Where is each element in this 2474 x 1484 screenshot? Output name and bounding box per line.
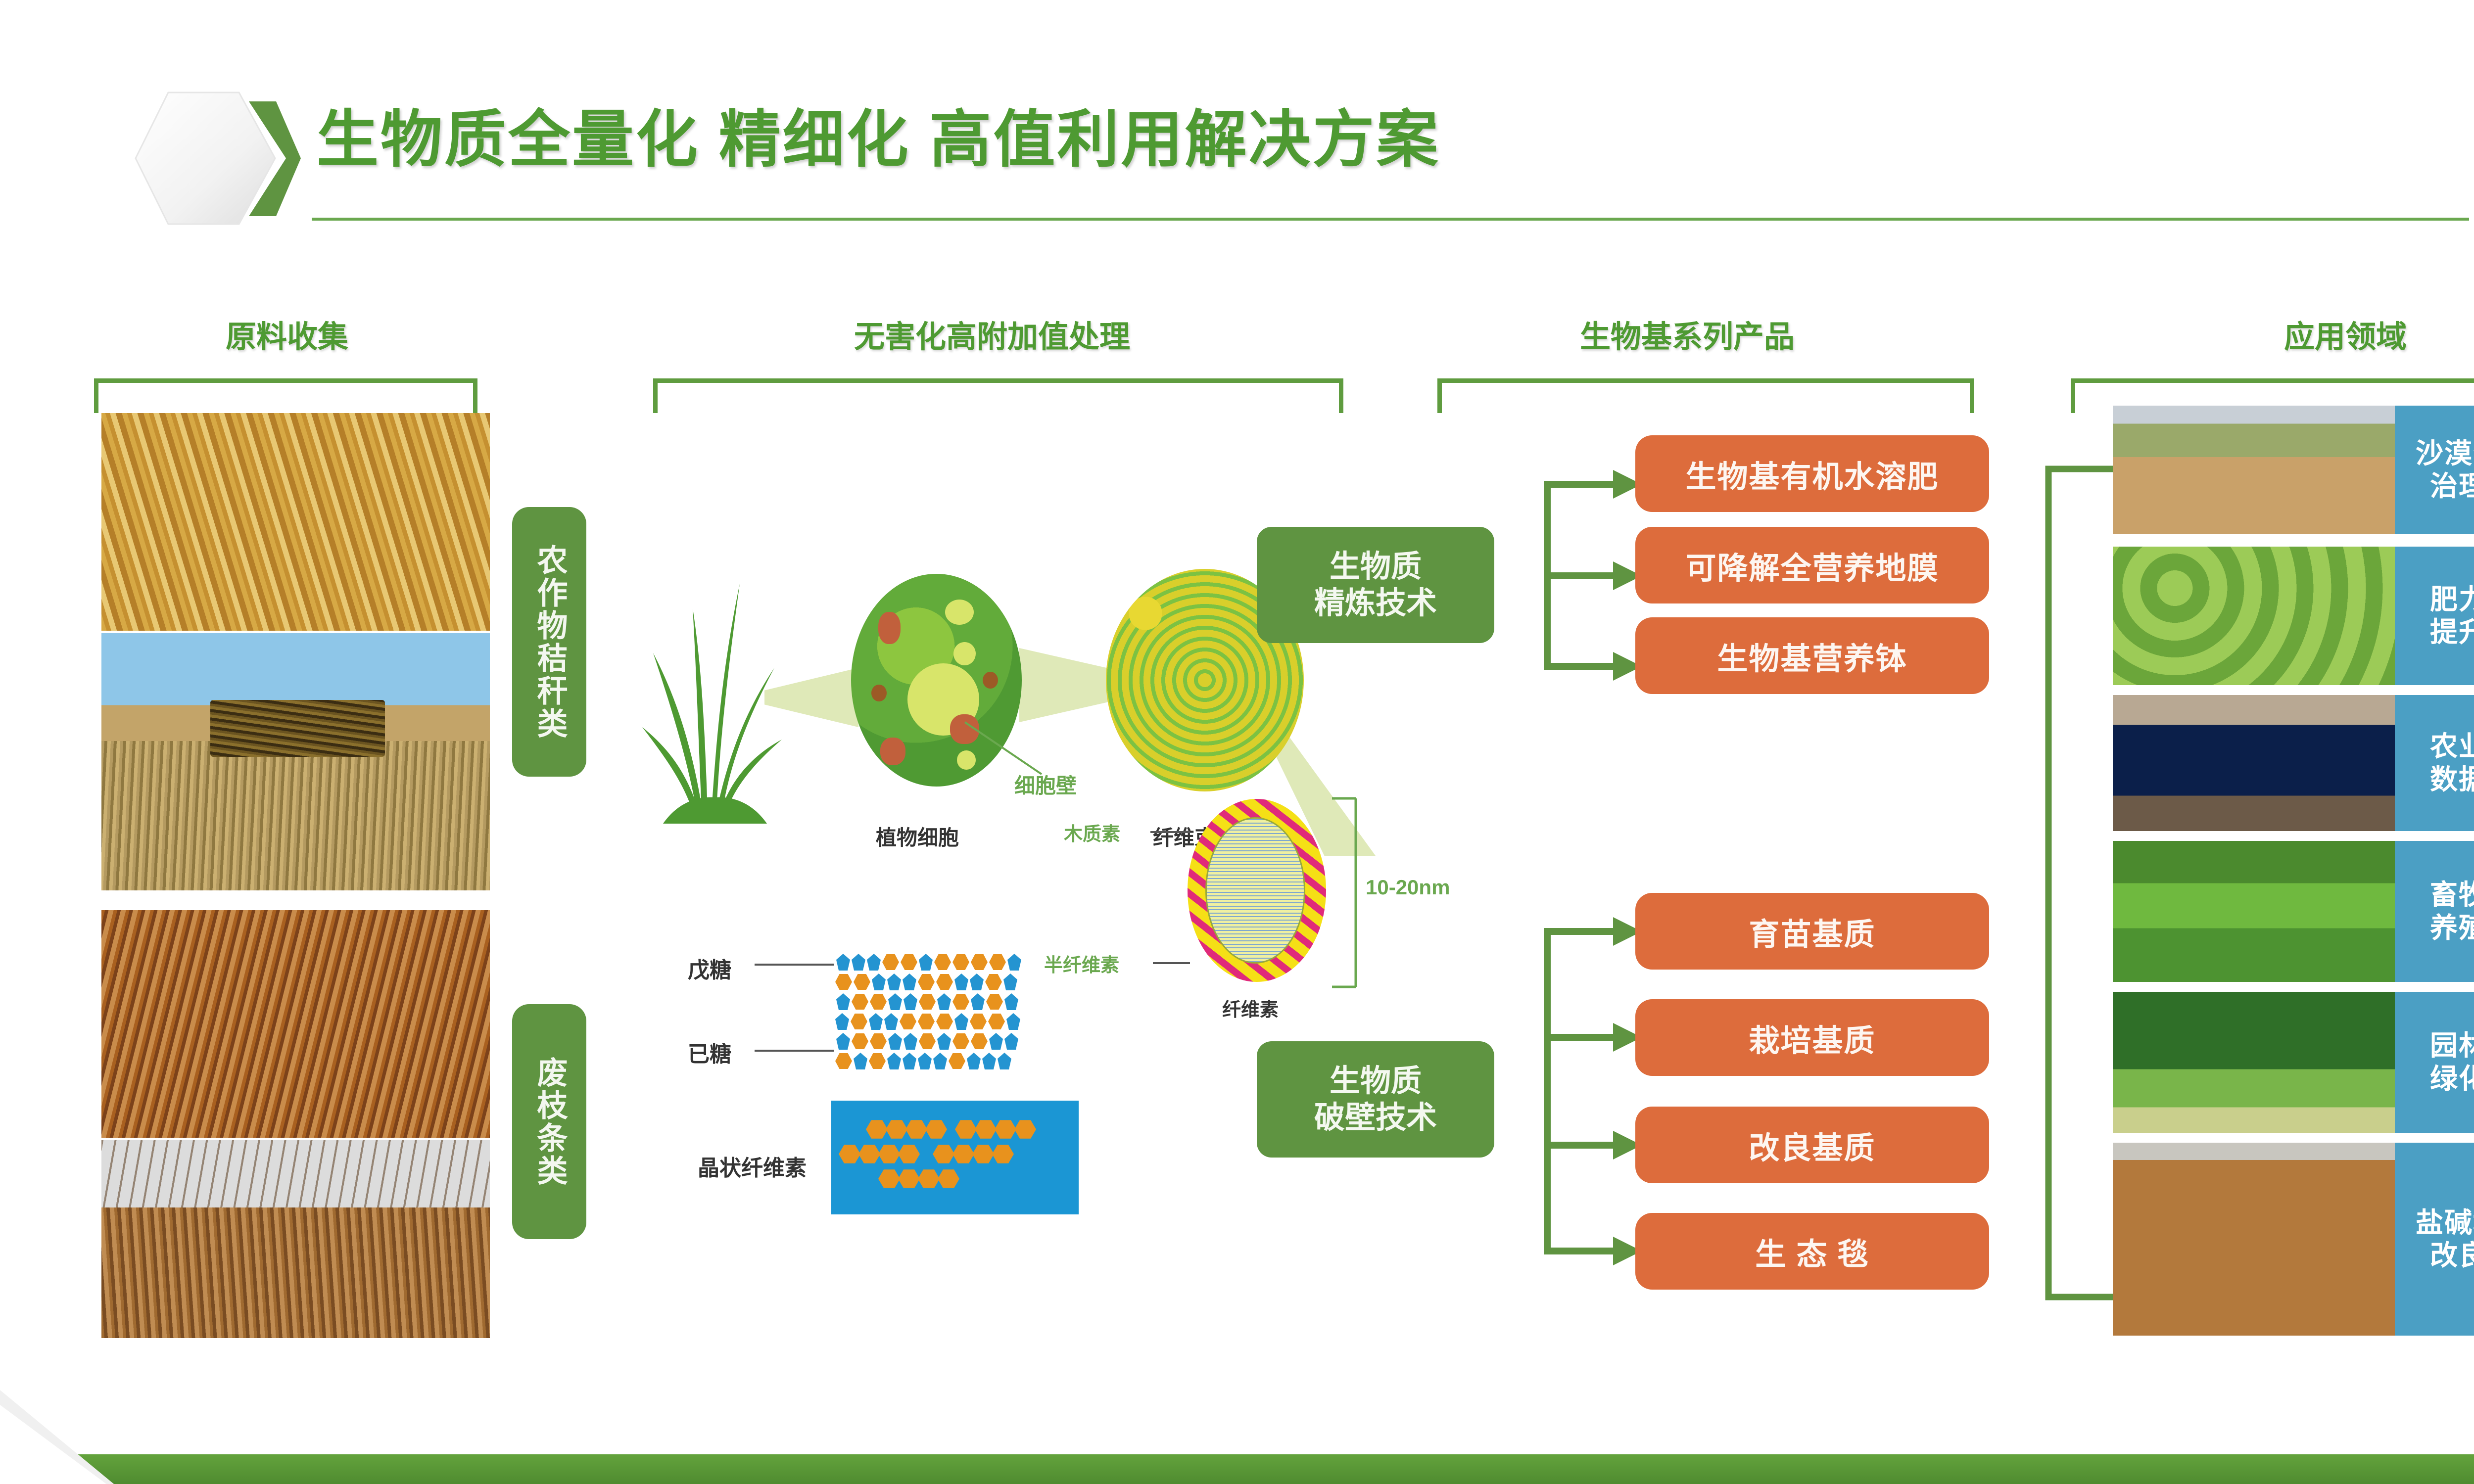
tech-line-1: 生物质	[1330, 549, 1422, 585]
tag-line-2: 绿化	[2430, 1063, 2474, 1095]
section-header-applications: 应用领域	[2133, 312, 2474, 356]
crop-straw-label: 农作物秸秆类	[512, 507, 586, 777]
lignin-leader-line	[1150, 831, 1190, 833]
orchard-pruning-photo	[101, 1140, 490, 1338]
bracket-processing	[653, 378, 1343, 413]
pentose-leader-line	[755, 964, 834, 966]
lignin-label: 木质素	[1064, 819, 1120, 846]
magnify-beam-2	[1019, 648, 1111, 722]
tag-line-2: 数据	[2430, 763, 2474, 796]
ecological-blanket[interactable]: 生 态 毯	[1635, 1213, 1989, 1290]
park-greening-photo	[2113, 992, 2395, 1133]
hexose-leader-line	[755, 1050, 834, 1052]
crystalline-cellulose-label: 晶状纤维素	[698, 1150, 807, 1182]
sugar-chain-row	[835, 1013, 1020, 1030]
sugar-chain-row	[836, 1033, 1018, 1050]
tag-line-2: 改良	[2430, 1239, 2474, 1272]
tag-line-1: 农业	[2430, 730, 2474, 763]
tag-line-2: 提升	[2430, 616, 2474, 649]
section-header-products: 生物基系列产品	[1440, 312, 1935, 356]
pruned-branches-photo	[101, 910, 490, 1138]
livestock-breeding-tag: 畜牧 养殖	[2395, 841, 2474, 982]
hemicellulose-leader-line	[1153, 962, 1190, 964]
hemicellulose-label: 半纤维素	[1044, 950, 1119, 977]
biomass-wall-breaking-tech[interactable]: 生物质 破壁技术	[1257, 1041, 1494, 1158]
degradable-full-nutrient-mulch-film[interactable]: 可降解全营养地膜	[1635, 527, 1989, 603]
tag-line-1: 园林	[2430, 1029, 2474, 1062]
improvement-substrate[interactable]: 改良基质	[1635, 1107, 1989, 1183]
sugar-chain-row	[835, 1053, 1011, 1069]
page-header: 生物质全量化 精细化 高值利用解决方案	[0, 0, 2474, 232]
bio-organic-water-soluble-fertilizer[interactable]: 生物基有机水溶肥	[1635, 435, 1989, 512]
footer-corner-left	[0, 1390, 114, 1484]
sugar-chain-row	[836, 954, 1021, 971]
cabbage-field-photo	[2113, 547, 2395, 685]
sugar-chain-row	[836, 993, 1018, 1010]
fertility-improvement-tag: 肥力 提升	[2395, 547, 2474, 685]
application-row-livestock[interactable]: 畜牧 养殖	[2113, 841, 2474, 982]
hexagon-chevron-logo	[133, 87, 303, 230]
tag-line-2: 养殖	[2430, 912, 2474, 944]
tag-line-1: 肥力	[2430, 583, 2474, 616]
bracket-products	[1437, 378, 1974, 413]
desertification-control-tag: 沙漠化 治理	[2395, 406, 2474, 534]
section-header-processing: 无害化高附加值处理	[648, 312, 1336, 356]
application-row-desertification[interactable]: 沙漠化 治理	[2113, 406, 2474, 534]
waste-branch-label: 废枝条类	[512, 1004, 586, 1239]
crystalline-cellulose-diagram	[831, 1101, 1079, 1214]
application-row-greening[interactable]: 园林 绿化	[2113, 992, 2474, 1133]
footer-bar	[0, 1454, 2474, 1484]
page-title: 生物质全量化 精细化 高值利用解决方案	[317, 89, 1440, 179]
tag-line-1: 沙漠化	[2416, 437, 2474, 470]
desert-control-photo	[2113, 406, 2395, 534]
seedling-substrate[interactable]: 育苗基质	[1635, 893, 1989, 970]
cultivation-substrate[interactable]: 栽培基质	[1635, 999, 1989, 1076]
straw-bale-field-photo	[101, 633, 490, 890]
title-underline	[312, 218, 2469, 221]
cell-wall-label: 细胞壁	[1014, 769, 1077, 799]
saline-alkali-improvement-tag: 盐碱地 改良	[2395, 1143, 2474, 1336]
tag-line-2: 治理	[2430, 470, 2474, 503]
application-row-fertility[interactable]: 肥力 提升	[2113, 547, 2474, 685]
landscape-greening-tag: 园林 绿化	[2395, 992, 2474, 1133]
cellulose-nanofiber-illustration	[1188, 799, 1326, 982]
tag-line-1: 畜牧	[2430, 879, 2474, 911]
grazing-sheep-photo	[2113, 841, 2395, 982]
data-center-photo	[2113, 695, 2395, 831]
agriculture-data-tag: 农业 数据	[2395, 695, 2474, 831]
tech-line-2: 精炼技术	[1314, 585, 1437, 621]
hexose-label: 已糖	[688, 1036, 731, 1068]
plant-cell-label: 植物细胞	[876, 821, 959, 851]
bio-based-nutrient-pot[interactable]: 生物基营养钵	[1635, 617, 1989, 694]
application-row-saline[interactable]: 盐碱地 改良	[2113, 1143, 2474, 1336]
tag-line-1: 盐碱地	[2416, 1206, 2474, 1239]
tech-line-1: 生物质	[1330, 1063, 1422, 1099]
nano-scale-label: 10-20nm	[1366, 876, 1450, 899]
corn-straw-photo	[101, 413, 490, 631]
biomass-refining-tech[interactable]: 生物质 精炼技术	[1257, 527, 1494, 643]
sugar-chain-row	[835, 974, 1017, 990]
bracket-raw-material	[94, 378, 477, 413]
application-row-agri-data[interactable]: 农业 数据	[2113, 695, 2474, 831]
nano-dimension-bracket	[1331, 796, 1361, 989]
tech-line-2: 破壁技术	[1314, 1100, 1437, 1136]
pentose-label: 戊糖	[688, 952, 731, 984]
section-header-raw-material: 原料收集	[148, 312, 426, 356]
saline-land-photo	[2113, 1143, 2395, 1336]
cellulose-label: 纤维素	[1222, 994, 1279, 1021]
